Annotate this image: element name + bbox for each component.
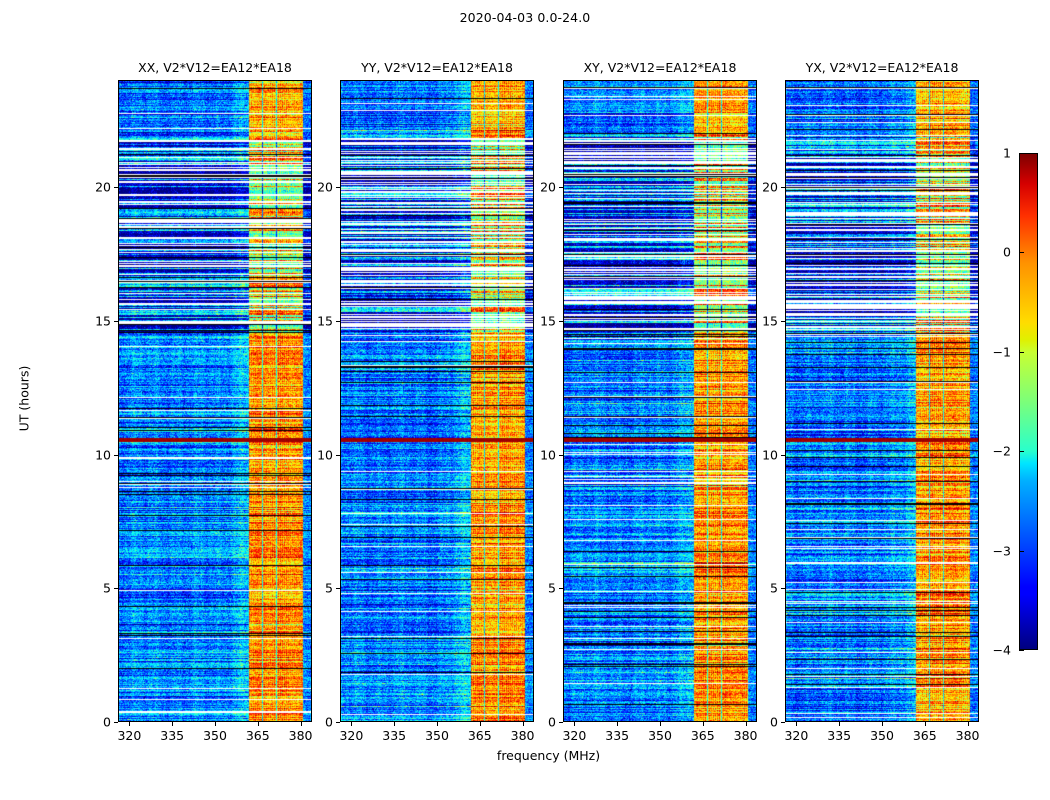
y-tick-mark xyxy=(336,455,340,456)
x-tick-label: 350 xyxy=(425,728,449,743)
y-tick-mark xyxy=(114,321,118,322)
x-tick-mark xyxy=(215,722,216,726)
y-tick-label: 15 xyxy=(317,313,333,328)
x-tick-mark xyxy=(617,722,618,726)
y-tick-mark xyxy=(114,187,118,188)
panel-yx: YX, V2*V12=EA12*EA18 xyxy=(785,80,979,722)
x-tick-mark xyxy=(437,722,438,726)
x-tick-mark xyxy=(660,722,661,726)
x-tick-label: 380 xyxy=(956,728,980,743)
y-tick-mark xyxy=(336,588,340,589)
y-tick-mark xyxy=(114,722,118,723)
y-tick-mark xyxy=(559,722,563,723)
y-tick-label: 10 xyxy=(95,447,111,462)
x-tick-label: 380 xyxy=(511,728,535,743)
y-tick-mark xyxy=(336,187,340,188)
x-tick-mark xyxy=(703,722,704,726)
spectrogram-image xyxy=(564,81,756,721)
x-tick-label: 335 xyxy=(382,728,406,743)
y-tick-label: 20 xyxy=(540,180,556,195)
x-tick-mark xyxy=(882,722,883,726)
y-tick-label: 5 xyxy=(325,581,333,596)
x-tick-mark xyxy=(523,722,524,726)
colorbar-tick-label: −4 xyxy=(993,643,1011,658)
colorbar-tick-mark xyxy=(1019,252,1024,253)
figure-canvas: 2020-04-03 0.0-24.0 XX, V2*V12=EA12*EA18… xyxy=(0,0,1050,800)
colorbar-tick-mark xyxy=(1019,352,1024,353)
y-tick-label: 0 xyxy=(103,715,111,730)
figure-suptitle: 2020-04-03 0.0-24.0 xyxy=(0,10,1050,25)
x-tick-label: 350 xyxy=(203,728,227,743)
y-tick-label: 0 xyxy=(548,715,556,730)
colorbar-tick-label: −1 xyxy=(993,344,1011,359)
y-tick-label: 20 xyxy=(762,180,778,195)
colorbar xyxy=(1019,153,1038,650)
y-tick-mark xyxy=(559,588,563,589)
x-tick-mark xyxy=(796,722,797,726)
x-tick-mark xyxy=(746,722,747,726)
y-tick-label: 20 xyxy=(317,180,333,195)
x-tick-label: 320 xyxy=(117,728,141,743)
colorbar-tick-mark xyxy=(1019,451,1024,452)
x-tick-mark xyxy=(129,722,130,726)
panel-xy: XY, V2*V12=EA12*EA18 xyxy=(563,80,757,722)
y-tick-label: 5 xyxy=(548,581,556,596)
colorbar-tick-label: 1 xyxy=(1003,146,1011,161)
x-tick-mark xyxy=(301,722,302,726)
x-tick-label: 320 xyxy=(784,728,808,743)
y-tick-mark xyxy=(781,455,785,456)
colorbar-tick-label: −3 xyxy=(993,543,1011,558)
x-tick-label: 350 xyxy=(648,728,672,743)
y-tick-mark xyxy=(336,722,340,723)
panel-title-yx: YX, V2*V12=EA12*EA18 xyxy=(806,60,959,75)
x-tick-mark xyxy=(351,722,352,726)
x-tick-label: 350 xyxy=(870,728,894,743)
x-tick-label: 320 xyxy=(562,728,586,743)
x-tick-label: 335 xyxy=(160,728,184,743)
y-tick-label: 20 xyxy=(95,180,111,195)
x-tick-mark xyxy=(480,722,481,726)
spectrogram-image xyxy=(341,81,533,721)
y-tick-label: 15 xyxy=(95,313,111,328)
panel-title-xx: XX, V2*V12=EA12*EA18 xyxy=(138,60,292,75)
y-tick-mark xyxy=(781,187,785,188)
y-tick-label: 0 xyxy=(770,715,778,730)
x-tick-mark xyxy=(574,722,575,726)
panel-plot-area xyxy=(563,80,757,722)
colorbar-tick-mark xyxy=(1019,153,1024,154)
panel-yy: YY, V2*V12=EA12*EA18 xyxy=(340,80,534,722)
x-tick-label: 380 xyxy=(734,728,758,743)
y-tick-mark xyxy=(781,321,785,322)
x-tick-label: 365 xyxy=(913,728,937,743)
y-tick-label: 0 xyxy=(325,715,333,730)
x-tick-mark xyxy=(925,722,926,726)
y-axis-label: UT (hours) xyxy=(17,329,32,469)
y-tick-mark xyxy=(559,321,563,322)
spectrogram-image xyxy=(786,81,978,721)
x-tick-label: 380 xyxy=(289,728,313,743)
colorbar-tick-label: −2 xyxy=(993,444,1011,459)
x-tick-label: 320 xyxy=(339,728,363,743)
y-tick-mark xyxy=(114,588,118,589)
x-tick-label: 365 xyxy=(468,728,492,743)
colorbar-tick-label: 0 xyxy=(1003,245,1011,260)
x-tick-mark xyxy=(968,722,969,726)
y-tick-mark xyxy=(781,722,785,723)
y-tick-label: 5 xyxy=(770,581,778,596)
x-tick-label: 365 xyxy=(691,728,715,743)
y-tick-label: 10 xyxy=(317,447,333,462)
panel-plot-area xyxy=(340,80,534,722)
x-tick-mark xyxy=(258,722,259,726)
x-tick-mark xyxy=(172,722,173,726)
x-axis-label: frequency (MHz) xyxy=(497,748,600,763)
spectrogram-image xyxy=(119,81,311,721)
x-tick-label: 365 xyxy=(246,728,270,743)
x-tick-mark xyxy=(394,722,395,726)
panel-xx: XX, V2*V12=EA12*EA18 xyxy=(118,80,312,722)
y-tick-mark xyxy=(559,455,563,456)
y-tick-label: 15 xyxy=(762,313,778,328)
y-tick-mark xyxy=(781,588,785,589)
colorbar-tick-mark xyxy=(1019,551,1024,552)
colorbar-gradient xyxy=(1020,154,1037,649)
y-tick-label: 5 xyxy=(103,581,111,596)
panel-plot-area xyxy=(118,80,312,722)
y-tick-mark xyxy=(559,187,563,188)
y-tick-mark xyxy=(114,455,118,456)
x-tick-label: 335 xyxy=(827,728,851,743)
x-tick-mark xyxy=(839,722,840,726)
y-tick-label: 15 xyxy=(540,313,556,328)
panel-title-yy: YY, V2*V12=EA12*EA18 xyxy=(361,60,513,75)
x-tick-label: 335 xyxy=(605,728,629,743)
y-tick-mark xyxy=(336,321,340,322)
panel-plot-area xyxy=(785,80,979,722)
colorbar-tick-mark xyxy=(1019,650,1024,651)
y-tick-label: 10 xyxy=(762,447,778,462)
panel-title-xy: XY, V2*V12=EA12*EA18 xyxy=(584,60,737,75)
y-tick-label: 10 xyxy=(540,447,556,462)
